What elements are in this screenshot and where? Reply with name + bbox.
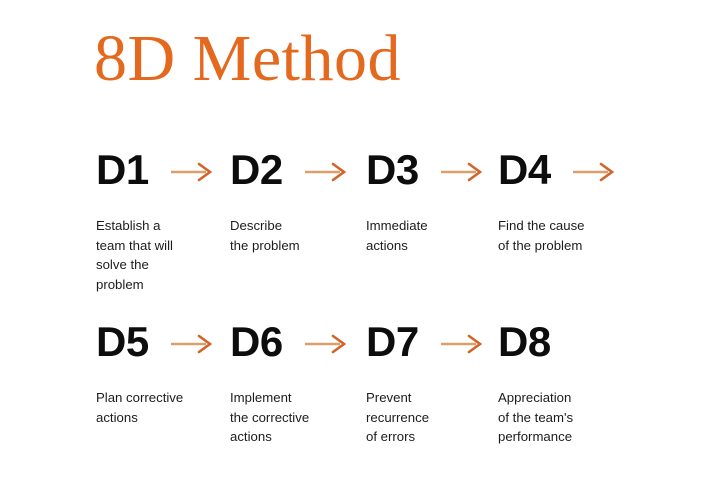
step-d1: D1 Establish a team that will solve the … (96, 148, 230, 196)
step-d5-description: Plan corrective actions (96, 388, 224, 427)
step-d3-code: D3 (366, 148, 419, 192)
arrow-right-icon (440, 333, 486, 355)
step-d5: D5 Plan corrective actions (96, 320, 230, 368)
step-d3: D3 Immediate actions (366, 148, 500, 196)
step-d3-header: D3 (366, 148, 500, 196)
page-title: 8D Method (94, 26, 401, 92)
step-d1-code: D1 (96, 148, 149, 192)
step-d7-header: D7 (366, 320, 500, 368)
eight-d-method-diagram: 8D Method D1 Establish a team that will … (0, 0, 720, 488)
step-d7-description: Prevent recurrence of errors (366, 388, 494, 447)
step-d6-description: Implement the corrective actions (230, 388, 358, 447)
step-d1-header: D1 (96, 148, 230, 196)
step-d2-code: D2 (230, 148, 283, 192)
step-d7-code: D7 (366, 320, 419, 364)
arrow-right-icon (304, 333, 350, 355)
step-d8-description: Appreciation of the team's performance (498, 388, 626, 447)
step-d4-description: Find the cause of the problem (498, 216, 626, 255)
step-d7: D7 Prevent recurrence of errors (366, 320, 500, 368)
arrow-right-icon (170, 161, 216, 183)
step-d3-description: Immediate actions (366, 216, 494, 255)
step-d2-header: D2 (230, 148, 364, 196)
arrow-right-icon (572, 161, 618, 183)
step-d8-header: D8 (498, 320, 632, 368)
step-d4-code: D4 (498, 148, 551, 192)
arrow-right-icon (304, 161, 350, 183)
step-d2-description: Describe the problem (230, 216, 358, 255)
arrow-right-icon (440, 161, 486, 183)
arrow-right-icon (170, 333, 216, 355)
step-d5-code: D5 (96, 320, 149, 364)
step-d4: D4 Find the cause of the problem (498, 148, 632, 196)
step-d8: D8 Appreciation of the team's performanc… (498, 320, 632, 368)
step-d8-code: D8 (498, 320, 551, 364)
step-d6-header: D6 (230, 320, 364, 368)
step-d4-header: D4 (498, 148, 632, 196)
step-d5-header: D5 (96, 320, 230, 368)
step-d6-code: D6 (230, 320, 283, 364)
step-d6: D6 Implement the corrective actions (230, 320, 364, 368)
step-d2: D2 Describe the problem (230, 148, 364, 196)
step-d1-description: Establish a team that will solve the pro… (96, 216, 224, 294)
